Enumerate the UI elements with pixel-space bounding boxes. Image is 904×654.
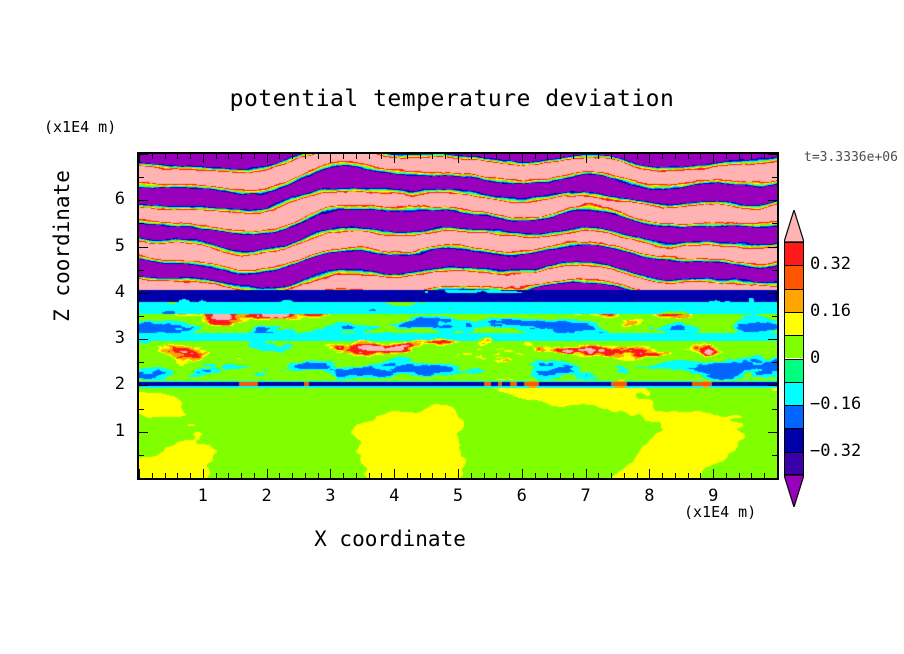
x-tick-top <box>432 154 433 159</box>
z-tick-left <box>139 270 144 271</box>
z-tick-right <box>768 247 777 248</box>
x-tick-bottom <box>496 473 497 478</box>
z-axis-title: Z coordinate <box>50 166 74 326</box>
x-tick-bottom <box>751 473 752 478</box>
x-tick-top <box>254 154 255 159</box>
z-tick-right <box>768 385 777 386</box>
z-tick-right <box>772 270 777 271</box>
x-tick-top <box>177 154 178 159</box>
x-tick-top <box>292 154 293 159</box>
x-tick-bottom <box>203 469 204 478</box>
x-tick-top <box>509 154 510 159</box>
z-tick-right <box>772 455 777 456</box>
x-tick-bottom <box>573 473 574 478</box>
z-tick-left <box>139 478 148 479</box>
x-tick-bottom <box>228 473 229 478</box>
x-tick-bottom <box>445 473 446 478</box>
x-tick-top <box>305 154 306 159</box>
x-tick-bottom <box>279 473 280 478</box>
figure-root: potential temperature deviation (x1E4 m)… <box>0 0 904 654</box>
x-tick-bottom <box>254 473 255 478</box>
x-tick-label: 5 <box>443 486 473 506</box>
x-tick-top <box>637 154 638 159</box>
scalar-field-heatmap <box>139 154 777 478</box>
x-tick-top <box>241 154 242 159</box>
colorbar-band-separator <box>784 289 804 290</box>
colorbar-tick-label: 0.16 <box>810 301 851 321</box>
x-tick-bottom <box>267 469 268 478</box>
colorbar-band-separator <box>784 265 804 266</box>
colorbar-band <box>784 242 804 265</box>
colorbar-band <box>784 265 804 288</box>
x-tick-bottom <box>688 473 689 478</box>
x-tick-top <box>267 154 268 163</box>
x-tick-top <box>330 154 331 163</box>
colorbar-band-separator <box>784 382 804 383</box>
z-tick-left <box>139 223 144 224</box>
z-tick-right <box>772 177 777 178</box>
z-tick-right <box>768 339 777 340</box>
x-tick-bottom <box>407 473 408 478</box>
z-tick-right <box>772 409 777 410</box>
x-tick-top <box>471 154 472 159</box>
colorbar-band <box>784 289 804 312</box>
x-tick-top <box>726 154 727 159</box>
x-tick-top <box>381 154 382 159</box>
colorbar-band <box>784 312 804 335</box>
x-tick-bottom <box>586 469 587 478</box>
x-tick-bottom <box>305 473 306 478</box>
x-tick-bottom <box>611 473 612 478</box>
z-tick-label: 3 <box>95 328 125 348</box>
z-tick-left <box>139 339 148 340</box>
x-tick-top <box>586 154 587 163</box>
x-tick-bottom <box>420 473 421 478</box>
x-tick-top <box>662 154 663 159</box>
x-tick-top <box>165 154 166 159</box>
x-tick-label: 4 <box>379 486 409 506</box>
colorbar-under-arrow-icon <box>784 475 804 507</box>
colorbar-band <box>784 382 804 405</box>
contour-plot-area <box>137 152 779 480</box>
x-tick-bottom <box>662 473 663 478</box>
x-tick-top <box>547 154 548 159</box>
colorbar-band-separator <box>784 335 804 336</box>
z-tick-label: 6 <box>95 189 125 209</box>
x-tick-label: 7 <box>571 486 601 506</box>
x-tick-bottom <box>152 473 153 478</box>
x-tick-bottom <box>471 473 472 478</box>
x-tick-label: 3 <box>315 486 345 506</box>
x-tick-label: 9 <box>698 486 728 506</box>
colorbar-tick-label: 0.32 <box>810 254 851 274</box>
x-tick-bottom <box>700 473 701 478</box>
x-tick-bottom <box>484 473 485 478</box>
x-tick-top <box>560 154 561 159</box>
z-tick-left <box>139 247 148 248</box>
x-tick-bottom <box>369 473 370 478</box>
x-tick-top <box>445 154 446 159</box>
z-tick-right <box>768 293 777 294</box>
x-tick-bottom <box>764 473 765 478</box>
x-tick-bottom <box>394 469 395 478</box>
x-tick-bottom <box>318 473 319 478</box>
x-tick-top <box>751 154 752 159</box>
z-tick-label: 4 <box>95 282 125 302</box>
colorbar-band <box>784 359 804 382</box>
x-tick-top <box>777 154 778 163</box>
x-tick-bottom <box>381 473 382 478</box>
x-tick-top <box>458 154 459 163</box>
x-tick-top <box>228 154 229 159</box>
x-tick-top <box>535 154 536 159</box>
z-tick-right <box>768 478 777 479</box>
z-tick-left <box>139 154 148 155</box>
colorbar-band-separator <box>784 428 804 429</box>
x-tick-bottom <box>458 469 459 478</box>
x-tick-top <box>420 154 421 159</box>
x-tick-top <box>688 154 689 159</box>
x-tick-bottom <box>624 473 625 478</box>
x-tick-top <box>496 154 497 159</box>
x-tick-bottom <box>330 469 331 478</box>
x-tick-bottom <box>560 473 561 478</box>
z-tick-left <box>139 409 144 410</box>
z-tick-left <box>139 385 148 386</box>
colorbar-tick-label: −0.32 <box>810 441 861 461</box>
x-tick-bottom <box>675 473 676 478</box>
x-tick-bottom <box>649 469 650 478</box>
x-tick-top <box>484 154 485 159</box>
z-tick-right <box>768 154 777 155</box>
x-tick-bottom <box>637 473 638 478</box>
x-tick-bottom <box>432 473 433 478</box>
x-tick-label: 2 <box>252 486 282 506</box>
x-tick-bottom <box>509 473 510 478</box>
x-tick-bottom <box>598 473 599 478</box>
x-tick-top <box>356 154 357 159</box>
z-tick-left <box>139 316 144 317</box>
colorbar-band-separator <box>784 405 804 406</box>
z-tick-right <box>772 316 777 317</box>
x-tick-bottom <box>139 469 140 478</box>
x-tick-bottom <box>177 473 178 478</box>
colorbar[interactable] <box>784 242 804 475</box>
x-tick-top <box>611 154 612 159</box>
x-tick-bottom <box>241 473 242 478</box>
x-tick-top <box>764 154 765 159</box>
z-tick-left <box>139 362 144 363</box>
colorbar-band-separator <box>784 359 804 360</box>
colorbar-band-separator <box>784 452 804 453</box>
x-tick-top <box>624 154 625 159</box>
x-tick-bottom <box>739 473 740 478</box>
z-tick-left <box>139 200 148 201</box>
x-tick-top <box>739 154 740 159</box>
z-tick-left <box>139 455 144 456</box>
x-tick-top <box>394 154 395 163</box>
z-tick-right <box>772 223 777 224</box>
x-tick-label: 6 <box>507 486 537 506</box>
x-tick-bottom <box>522 469 523 478</box>
x-tick-top <box>675 154 676 159</box>
z-tick-label: 1 <box>95 421 125 441</box>
x-tick-label: 1 <box>188 486 218 506</box>
x-tick-top <box>713 154 714 163</box>
x-tick-top <box>318 154 319 159</box>
x-tick-bottom <box>292 473 293 478</box>
x-tick-bottom <box>777 469 778 478</box>
x-tick-bottom <box>190 473 191 478</box>
x-tick-top <box>190 154 191 159</box>
colorbar-tick-label: 0 <box>810 348 820 368</box>
x-tick-bottom <box>165 473 166 478</box>
x-tick-top <box>152 154 153 159</box>
x-tick-bottom <box>713 469 714 478</box>
z-tick-right <box>768 432 777 433</box>
z-axis-unit-label: (x1E4 m) <box>44 118 116 136</box>
x-tick-bottom <box>726 473 727 478</box>
colorbar-band <box>784 452 804 475</box>
x-tick-top <box>139 154 140 163</box>
colorbar-band <box>784 428 804 451</box>
x-tick-top <box>216 154 217 159</box>
time-annotation: t=3.3336e+06 <box>804 150 898 165</box>
x-tick-top <box>279 154 280 159</box>
x-tick-top <box>649 154 650 163</box>
z-tick-right <box>768 200 777 201</box>
colorbar-tick-label: −0.16 <box>810 394 861 414</box>
x-tick-top <box>598 154 599 159</box>
x-tick-top <box>203 154 204 163</box>
x-tick-top <box>343 154 344 159</box>
x-tick-bottom <box>356 473 357 478</box>
x-tick-top <box>700 154 701 159</box>
colorbar-over-arrow-icon <box>784 210 804 242</box>
colorbar-band <box>784 335 804 358</box>
x-tick-bottom <box>547 473 548 478</box>
x-tick-top <box>369 154 370 159</box>
page-title: potential temperature deviation <box>0 86 904 112</box>
x-tick-top <box>522 154 523 163</box>
x-tick-label: 8 <box>634 486 664 506</box>
z-tick-label: 5 <box>95 236 125 256</box>
x-tick-top <box>573 154 574 159</box>
z-tick-left <box>139 432 148 433</box>
colorbar-band <box>784 405 804 428</box>
z-tick-left <box>139 293 148 294</box>
x-tick-bottom <box>216 473 217 478</box>
colorbar-band-separator <box>784 312 804 313</box>
x-axis-title: X coordinate <box>0 527 780 551</box>
z-tick-left <box>139 177 144 178</box>
x-tick-bottom <box>343 473 344 478</box>
z-tick-right <box>772 362 777 363</box>
x-tick-top <box>407 154 408 159</box>
z-tick-label: 2 <box>95 374 125 394</box>
x-tick-bottom <box>535 473 536 478</box>
